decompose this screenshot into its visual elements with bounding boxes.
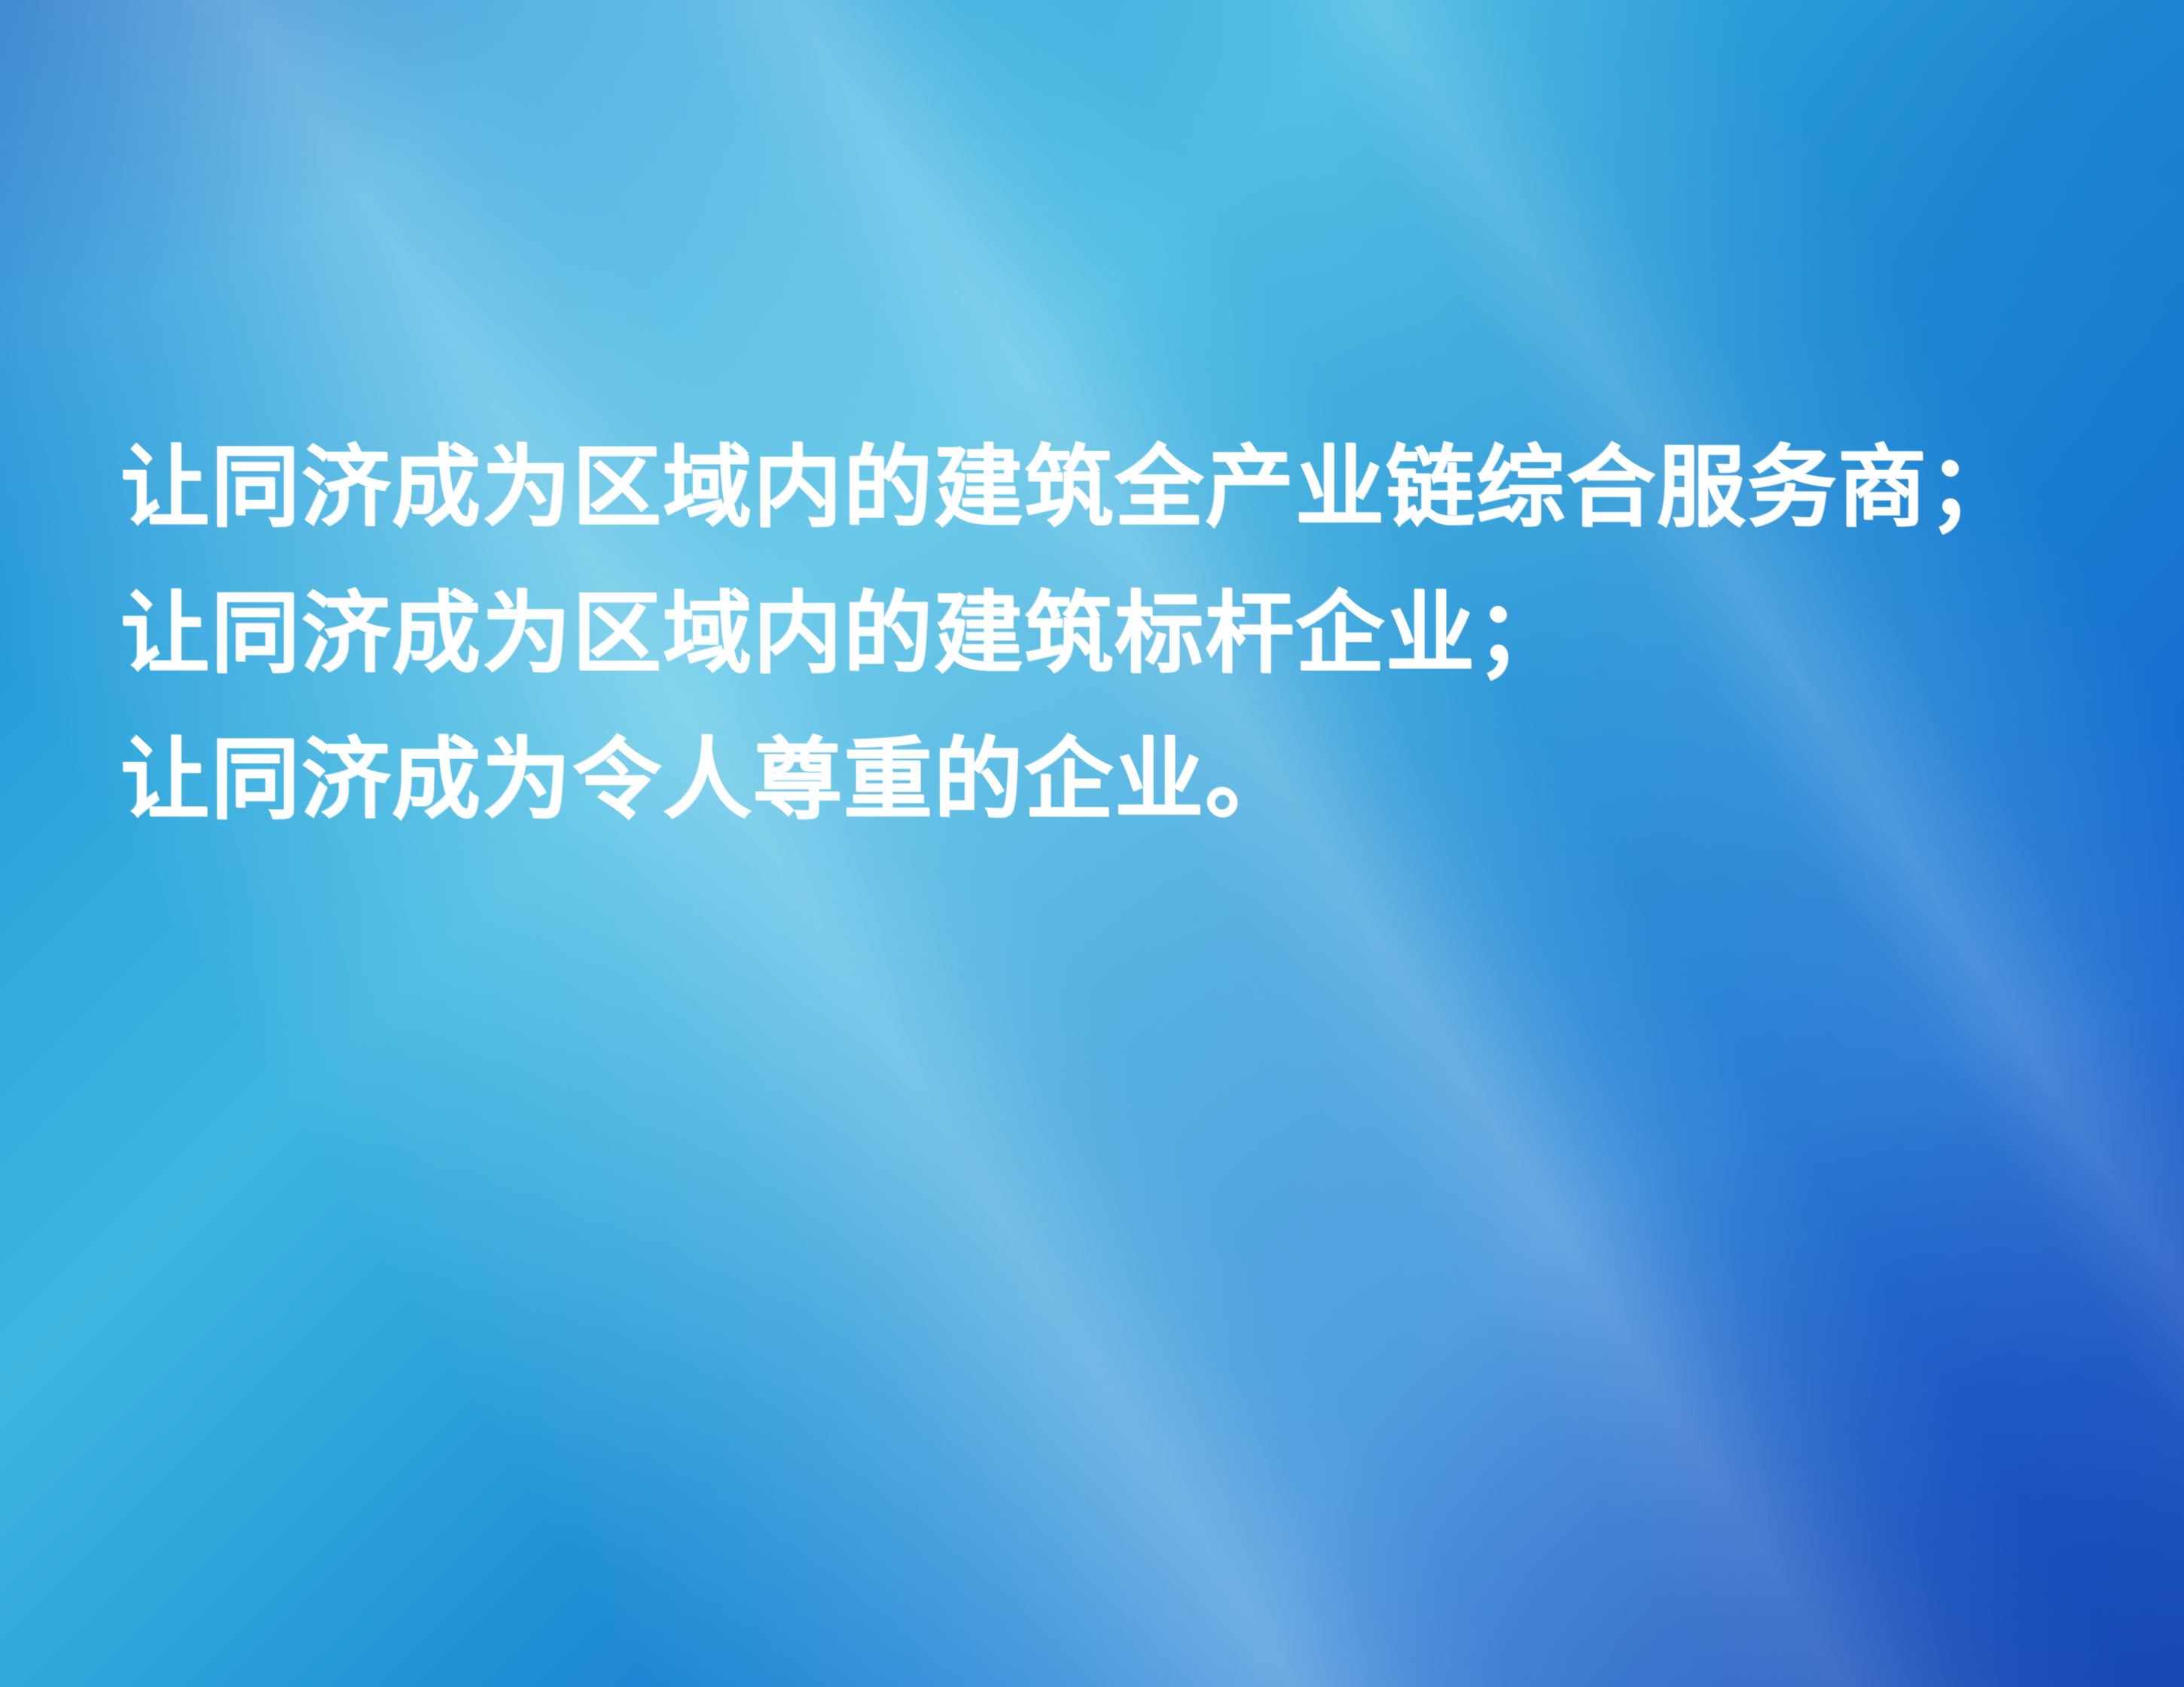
presentation-slide: 让同济成为区域内的建筑全产业链综合服务商； 让同济成为区域内的建筑标杆企业； 让… xyxy=(0,0,2184,1687)
slide-text-block: 让同济成为区域内的建筑全产业链综合服务商； 让同济成为区域内的建筑标杆企业； 让… xyxy=(120,443,2094,824)
slide-text-line-3: 让同济成为令人尊重的企业。 xyxy=(120,735,2094,824)
background-light-sweep-primary xyxy=(0,0,2184,1687)
background-light-sweep-secondary xyxy=(0,0,2184,1687)
background-light-sweep-tertiary xyxy=(0,0,2184,1687)
background-corner-shading xyxy=(0,0,2184,1687)
background-base-gradient xyxy=(0,0,2184,1687)
slide-text-line-2: 让同济成为区域内的建筑标杆企业； xyxy=(120,589,2094,678)
slide-text-line-1: 让同济成为区域内的建筑全产业链综合服务商； xyxy=(120,443,2094,532)
